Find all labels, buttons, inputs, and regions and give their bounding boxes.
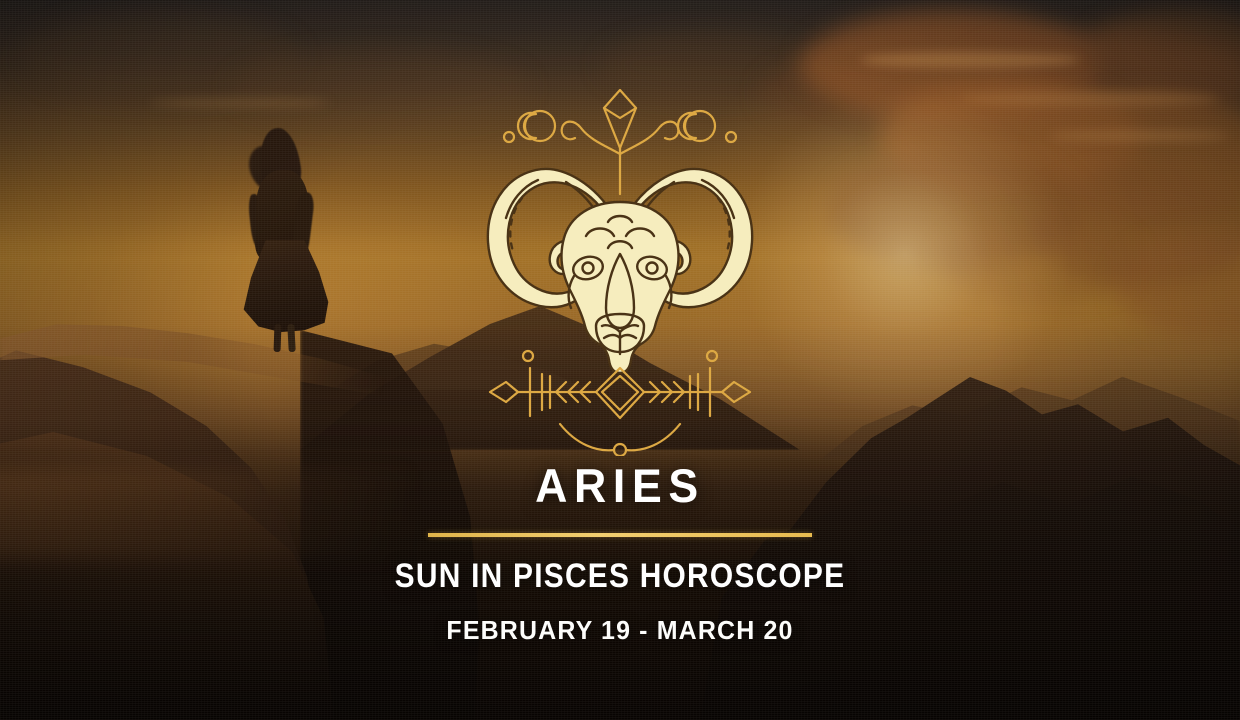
gold-divider	[428, 533, 812, 537]
date-range: FEBRUARY 19 - MARCH 20	[25, 617, 1215, 643]
page-title: ARIES	[31, 462, 1209, 509]
ram-head-group	[488, 169, 752, 373]
aries-ram-zodiac-emblem: .cream { fill: #F6EDBE; } .strokeDark { …	[478, 76, 762, 456]
horoscope-banner: .cream { fill: #F6EDBE; } .strokeDark { …	[0, 0, 1240, 720]
subtitle: SUN IN PISCES HOROSCOPE	[74, 559, 1165, 593]
divider-wrapper	[0, 533, 1240, 537]
title-block: ARIES SUN IN PISCES HOROSCOPE FEBRUARY 1…	[0, 462, 1240, 643]
